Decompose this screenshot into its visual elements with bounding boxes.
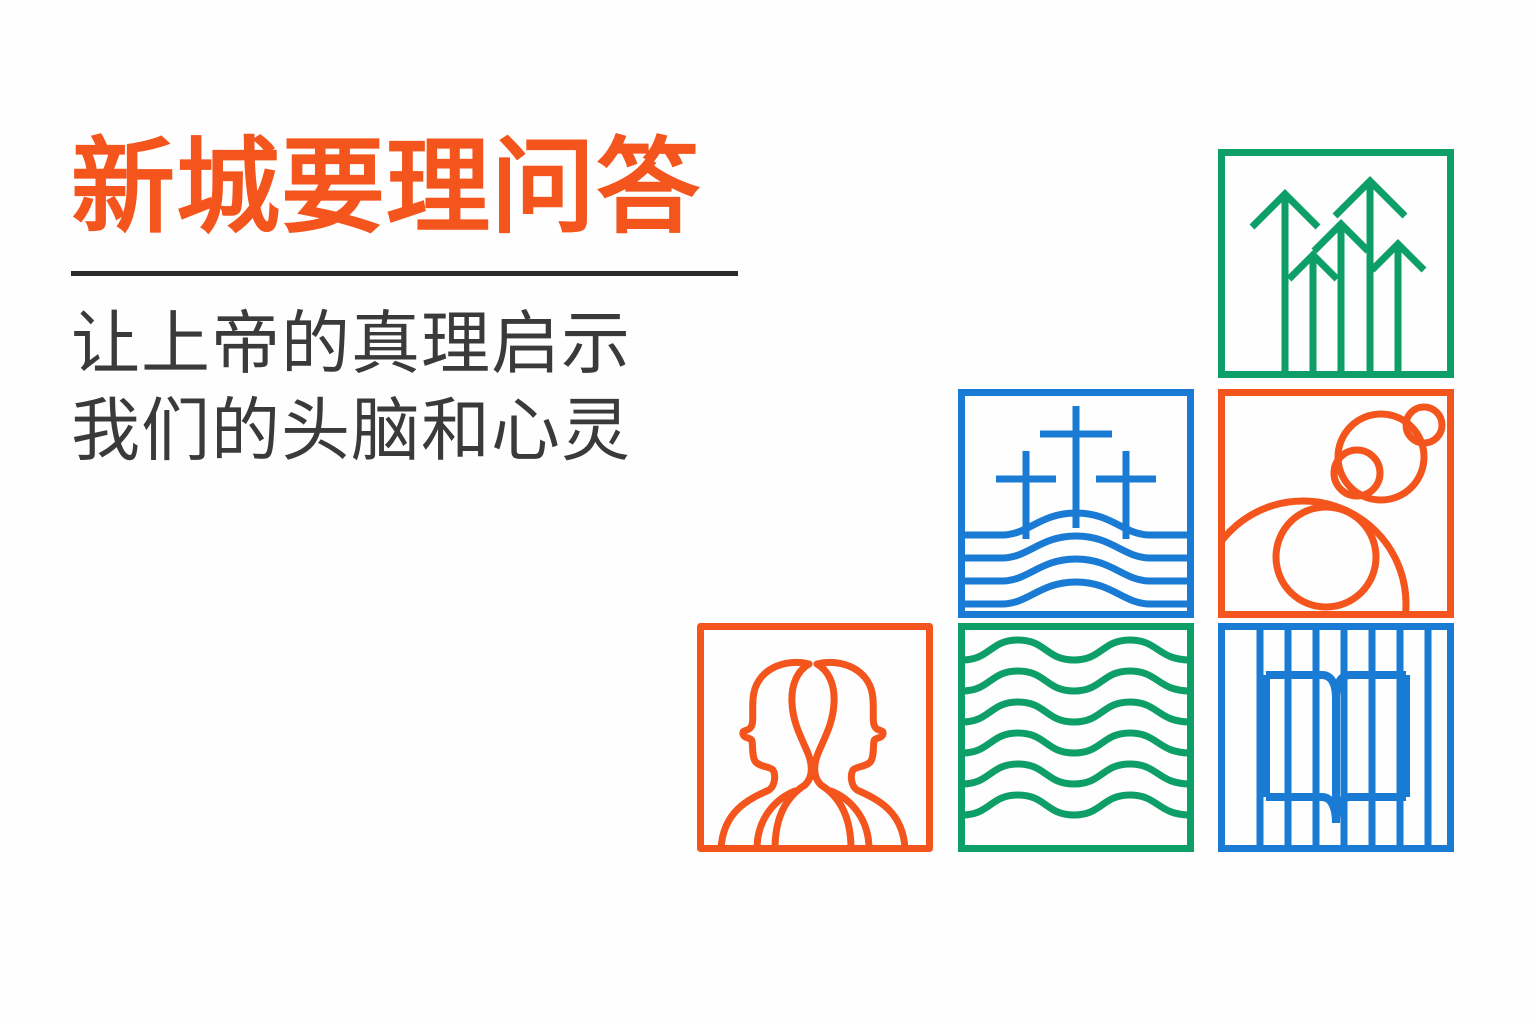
title-block: 新城要理问答 让上帝的真理启示 我们的头脑和心灵 [71, 132, 771, 474]
water-waves-icon [958, 623, 1194, 852]
three-crosses-hill-icon [958, 389, 1194, 618]
tile-growing-arrows [1218, 149, 1454, 378]
poster-canvas: 新城要理问答 让上帝的真理启示 我们的头脑和心灵 [0, 0, 1536, 1024]
icon-grid [697, 149, 1459, 855]
tile-open-book [1218, 623, 1454, 852]
subtitle-line-2: 我们的头脑和心灵 [71, 388, 771, 474]
tile-rising-bubbles [1218, 389, 1454, 618]
subtitle-line-1: 让上帝的真理启示 [71, 301, 771, 387]
page-title: 新城要理问答 [71, 132, 771, 244]
rising-circles-icon [1218, 389, 1454, 618]
open-book-city-icon [1218, 623, 1454, 852]
tile-two-profiles [697, 623, 933, 852]
two-profiles-icon [697, 623, 933, 852]
page-subtitle: 让上帝的真理启示 我们的头脑和心灵 [71, 301, 771, 474]
tile-three-crosses [958, 389, 1194, 618]
tile-waves [958, 623, 1194, 852]
growing-arrows-icon [1218, 149, 1454, 378]
title-divider [71, 271, 738, 276]
